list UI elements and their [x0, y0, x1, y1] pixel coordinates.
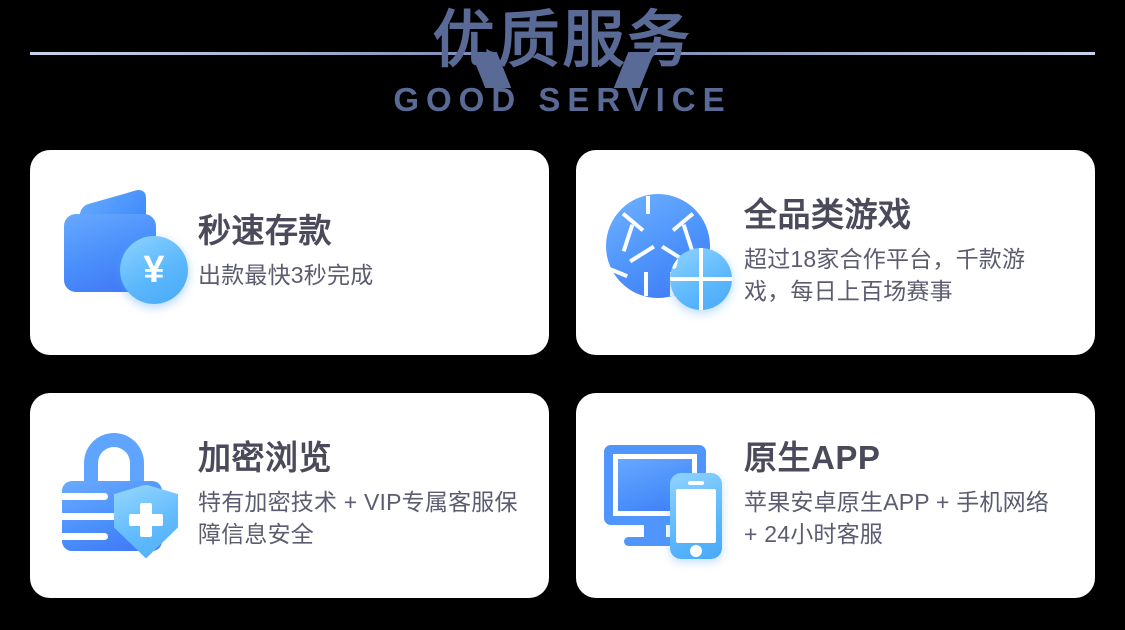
- page-title: 优质服务: [0, 8, 1125, 75]
- card-title: 全品类游戏: [744, 197, 1069, 234]
- card-text-block: 全品类游戏 超过18家合作平台，千款游戏，每日上百场赛事: [744, 197, 1069, 308]
- card-description: 超过18家合作平台，千款游戏，每日上百场赛事: [744, 243, 1069, 308]
- feature-card-games[interactable]: 全品类游戏 超过18家合作平台，千款游戏，每日上百场赛事: [576, 150, 1095, 355]
- wallet-yen-icon: ¥: [58, 188, 188, 318]
- feature-card-deposit[interactable]: ¥ 秒速存款 出款最快3秒完成: [30, 150, 549, 355]
- yen-coin-icon: ¥: [120, 236, 188, 304]
- page-header: 优质服务 GOOD SERVICE: [0, 0, 1125, 140]
- feature-card-grid: ¥ 秒速存款 出款最快3秒完成 全品类游戏 超过18家合作平台，千款游戏，每日上…: [30, 150, 1095, 598]
- soccer-basketball-icon: [604, 188, 734, 318]
- card-title: 加密浏览: [198, 440, 523, 477]
- card-title: 原生APP: [744, 440, 1069, 477]
- card-text-block: 秒速存款 出款最快3秒完成: [198, 213, 523, 292]
- card-text-block: 原生APP 苹果安卓原生APP + 手机网络 + 24小时客服: [744, 440, 1069, 551]
- title-block: 优质服务 GOOD SERVICE: [0, 8, 1125, 119]
- card-description: 苹果安卓原生APP + 手机网络 + 24小时客服: [744, 486, 1069, 551]
- monitor-phone-icon: [604, 431, 734, 561]
- page-subtitle: GOOD SERVICE: [0, 81, 1125, 119]
- phone-icon: [670, 473, 722, 559]
- card-description: 出款最快3秒完成: [198, 259, 523, 292]
- lock-shield-icon: [58, 431, 188, 561]
- feature-card-encryption[interactable]: 加密浏览 特有加密技术 + VIP专属客服保障信息安全: [30, 393, 549, 598]
- feature-card-native-app[interactable]: 原生APP 苹果安卓原生APP + 手机网络 + 24小时客服: [576, 393, 1095, 598]
- basketball-icon: [670, 248, 732, 310]
- card-text-block: 加密浏览 特有加密技术 + VIP专属客服保障信息安全: [198, 440, 523, 551]
- card-title: 秒速存款: [198, 213, 523, 250]
- card-description: 特有加密技术 + VIP专属客服保障信息安全: [198, 486, 523, 551]
